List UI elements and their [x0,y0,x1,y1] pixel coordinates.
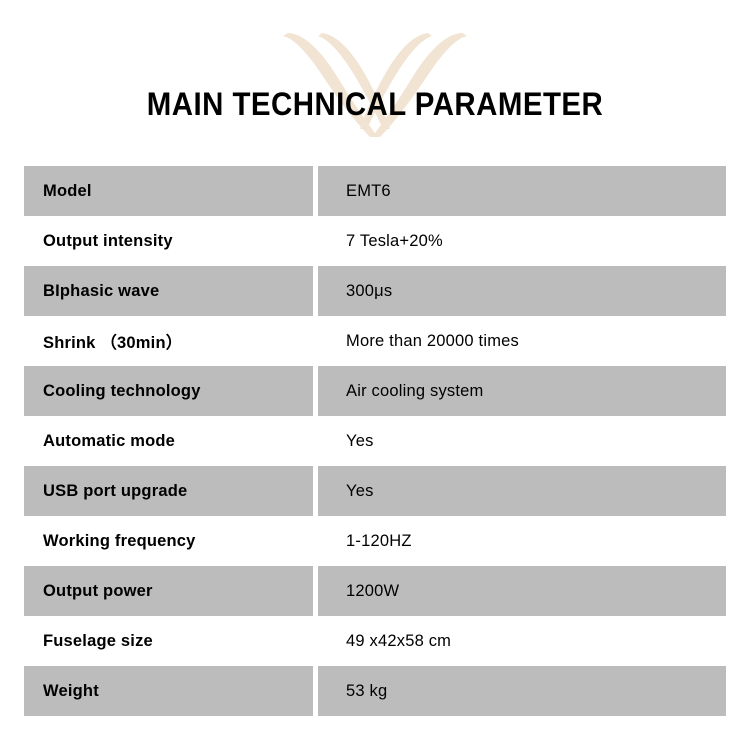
page-title: MAIN TECHNICAL PARAMETER [30,86,720,123]
parameter-value-cell: 7 Tesla+20% [318,216,726,266]
parameter-label-cell: Output power [24,566,313,616]
parameter-value-cell: Yes [318,466,726,516]
parameter-label-cell: Output intensity [24,216,313,266]
parameter-value-cell: 1-120HZ [318,516,726,566]
parameter-label-cell: Cooling technology [24,366,313,416]
table-row: Working frequency1-120HZ [24,516,726,566]
parameter-value-cell: EMT6 [318,166,726,216]
technical-parameter-table: ModelEMT6Output intensity7 Tesla+20%BIph… [24,166,726,716]
parameter-label-cell: Working frequency [24,516,313,566]
table-row: BIphasic wave300μs [24,266,726,316]
parameter-label-cell: Fuselage size [24,616,313,666]
parameter-label-cell: Shrink （30min） [24,316,313,366]
parameter-label-cell: Model [24,166,313,216]
table-row: Shrink （30min）More than 20000 times [24,316,726,366]
parameter-value-cell: Air cooling system [318,366,726,416]
parameter-label-cell: Automatic mode [24,416,313,466]
parameter-label-cell: USB port upgrade [24,466,313,516]
table-row: Cooling technologyAir cooling system [24,366,726,416]
parameter-value-cell: 53 kg [318,666,726,716]
table-row: ModelEMT6 [24,166,726,216]
table-row: Weight53 kg [24,666,726,716]
parameter-value-cell: 49 x42x58 cm [318,616,726,666]
parameter-value-cell: 300μs [318,266,726,316]
table-row: USB port upgradeYes [24,466,726,516]
double-v-swoosh-ornament [0,0,750,166]
page-header: MAIN TECHNICAL PARAMETER [0,0,750,166]
table-row: Output power1200W [24,566,726,616]
parameter-label-cell: Weight [24,666,313,716]
parameter-value-cell: Yes [318,416,726,466]
parameter-label-cell: BIphasic wave [24,266,313,316]
table-row: Output intensity7 Tesla+20% [24,216,726,266]
parameter-value-cell: 1200W [318,566,726,616]
parameter-value-cell: More than 20000 times [318,316,726,366]
table-row: Fuselage size49 x42x58 cm [24,616,726,666]
table-row: Automatic modeYes [24,416,726,466]
